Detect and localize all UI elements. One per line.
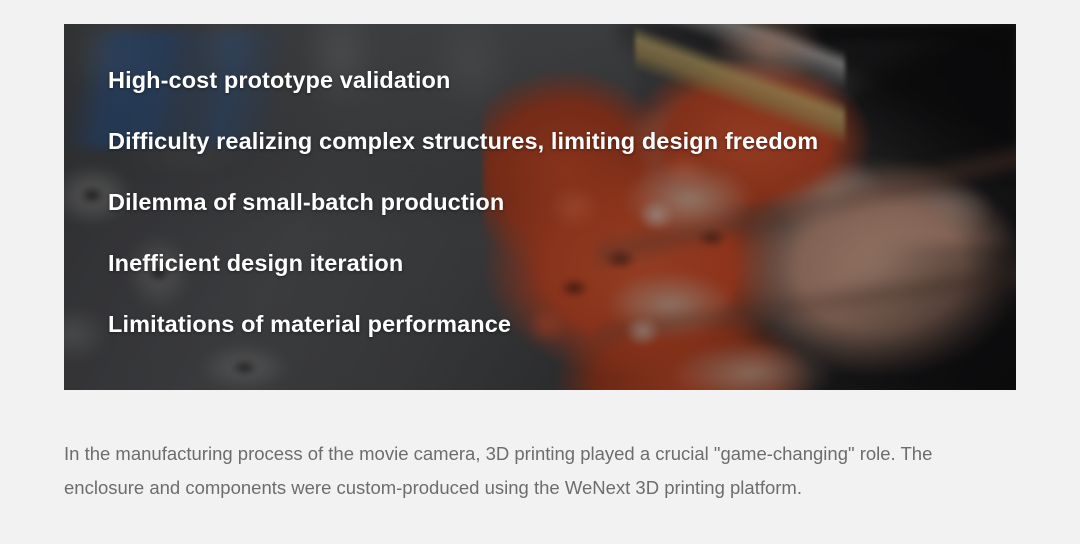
hero-image-block: High-cost prototype validation Difficult… xyxy=(64,24,1016,390)
hero-pain-point-3: Dilemma of small-batch production xyxy=(108,191,504,215)
hero-pain-point-1: High-cost prototype validation xyxy=(108,69,450,93)
hero-pain-point-4: Inefficient design iteration xyxy=(108,252,403,276)
page-root: High-cost prototype validation Difficult… xyxy=(0,0,1080,544)
hero-pain-point-list: High-cost prototype validation Difficult… xyxy=(108,24,1016,390)
hero-pain-point-5: Limitations of material performance xyxy=(108,313,511,337)
image-caption: In the manufacturing process of the movi… xyxy=(64,437,1016,505)
hero-pain-point-2: Difficulty realizing complex structures,… xyxy=(108,130,818,154)
